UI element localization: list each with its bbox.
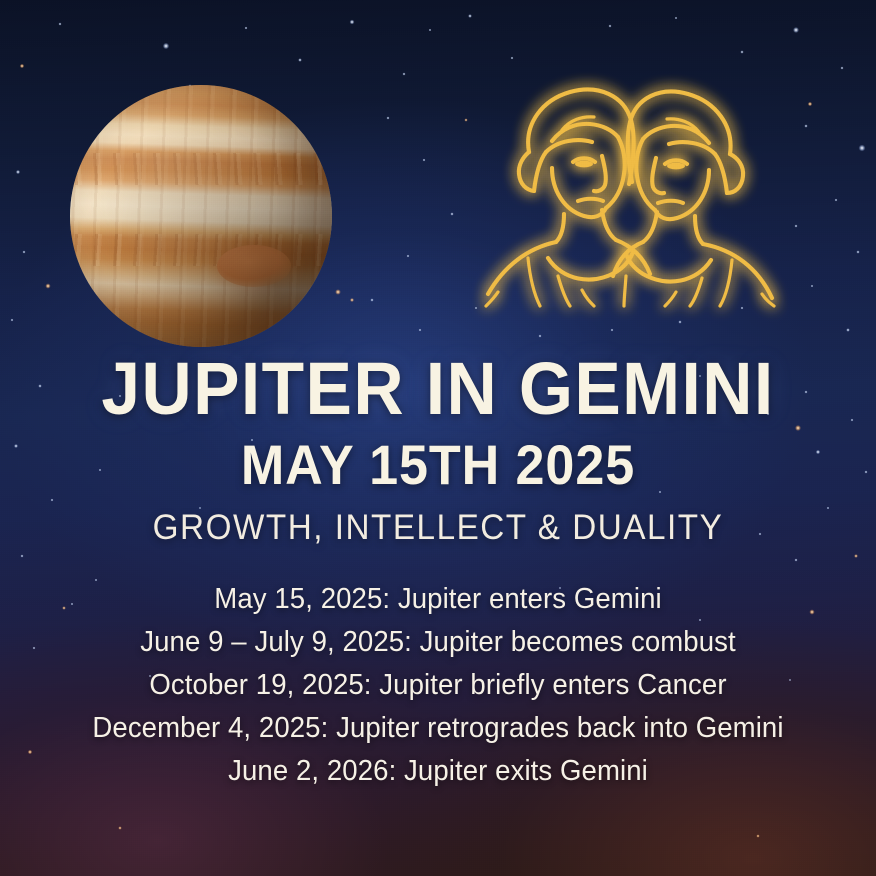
list-item: June 2, 2026: Jupiter exits Gemini <box>22 750 854 793</box>
list-item: June 9 – July 9, 2025: Jupiter becomes c… <box>22 621 854 664</box>
poster-text-block: JUPITER IN GEMINI MAY 15TH 2025 GROWTH, … <box>0 352 876 793</box>
list-item: October 19, 2025: Jupiter briefly enters… <box>22 664 854 707</box>
transit-timeline-list: May 15, 2025: Jupiter enters Gemini June… <box>0 578 876 793</box>
event-date: MAY 15TH 2025 <box>31 437 846 493</box>
list-item: December 4, 2025: Jupiter retrogrades ba… <box>22 707 854 750</box>
poster-tagline: GROWTH, INTELLECT & DUALITY <box>22 510 854 545</box>
page-title: JUPITER IN GEMINI <box>26 352 849 426</box>
list-item: May 15, 2025: Jupiter enters Gemini <box>22 578 854 621</box>
astrology-poster: JUPITER IN GEMINI MAY 15TH 2025 GROWTH, … <box>0 0 876 876</box>
